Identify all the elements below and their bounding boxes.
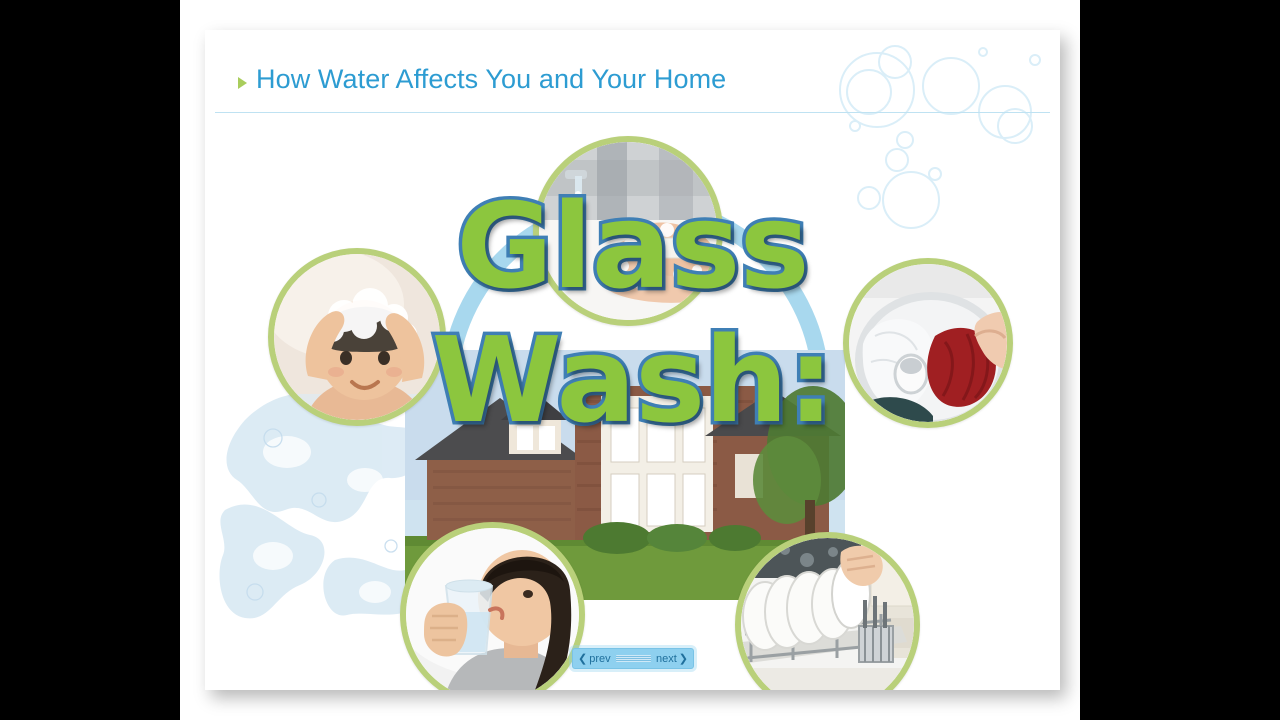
next-button-label: next bbox=[656, 653, 677, 665]
prev-button-label: prev bbox=[589, 653, 610, 665]
chevron-right-icon: ❯ bbox=[679, 652, 688, 665]
slide-navigation-bar[interactable]: ❮ prev next ❯ bbox=[572, 648, 694, 669]
triangle-right-icon bbox=[238, 77, 247, 89]
presentation-slide: How Water Affects You and Your Home bbox=[205, 30, 1060, 690]
progress-track[interactable] bbox=[616, 655, 651, 662]
photo-collage bbox=[205, 90, 1060, 690]
next-button[interactable]: next ❯ bbox=[656, 652, 688, 665]
chevron-left-icon: ❮ bbox=[578, 652, 587, 665]
photo-hand-washing bbox=[533, 136, 723, 326]
screenshot-canvas: How Water Affects You and Your Home bbox=[0, 0, 1280, 720]
prev-button[interactable]: ❮ prev bbox=[578, 652, 611, 665]
photo-laundry-washer bbox=[843, 258, 1013, 428]
photo-child-shampoo bbox=[268, 248, 446, 426]
